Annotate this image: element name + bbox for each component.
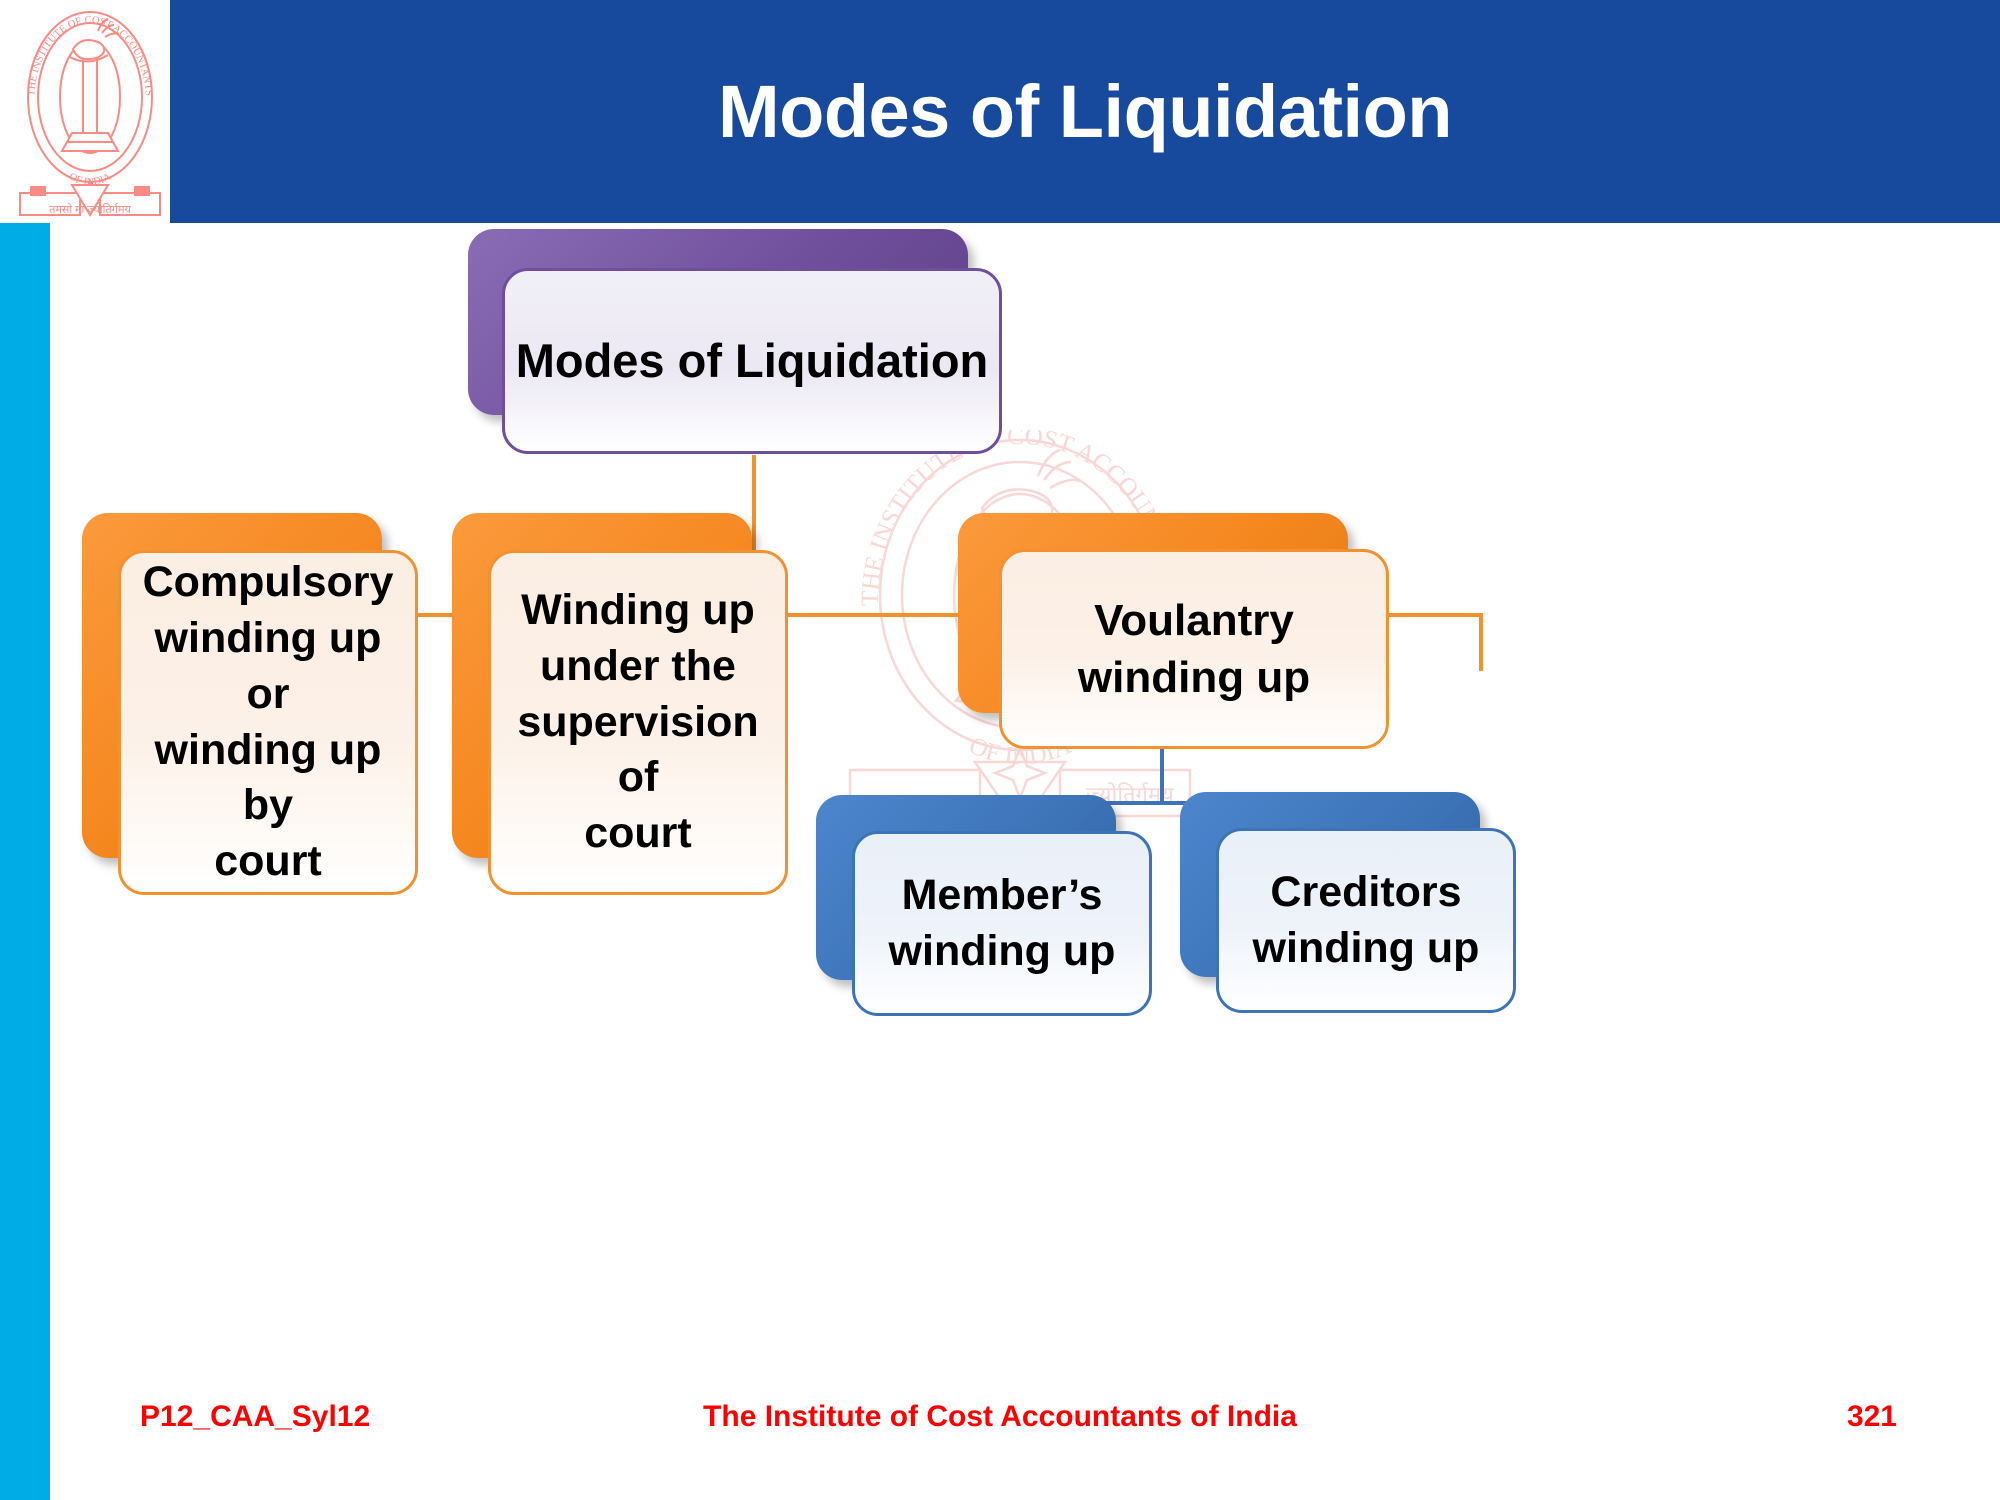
- node-modes-of-liquidation[interactable]: Modes of Liquidation: [468, 229, 968, 415]
- footer-page-number: 321: [0, 1400, 1897, 1434]
- page-title: Modes of Liquidation: [170, 0, 2000, 223]
- institute-logo: तमसो मा ज्योतिर्गमय THE INSTITUTE OF COS…: [10, 5, 170, 223]
- slide-header-bar: Modes of Liquidation: [170, 0, 2000, 223]
- node-face[interactable]: Winding up under the supervision of cour…: [488, 550, 788, 895]
- node-face[interactable]: Compulsory winding up or winding up by c…: [118, 550, 418, 895]
- node-winding-up-under-supervision-of-court[interactable]: Winding up under the supervision of cour…: [452, 513, 752, 858]
- connector-drop-voluntary: [1479, 613, 1483, 671]
- node-face[interactable]: Voulantry winding up: [999, 549, 1389, 749]
- node-face[interactable]: Member’s winding up: [852, 831, 1152, 1016]
- node-compulsory-winding-up[interactable]: Compulsory winding up or winding up by c…: [82, 513, 382, 858]
- node-creditors-winding-up[interactable]: Creditors winding up: [1180, 792, 1480, 977]
- node-label: Winding up under the supervision of cour…: [507, 583, 768, 862]
- node-face[interactable]: Creditors winding up: [1216, 828, 1516, 1013]
- node-label: Modes of Liquidation: [506, 330, 999, 391]
- left-accent-strip: [0, 223, 50, 1500]
- node-label: Member’s winding up: [879, 868, 1126, 980]
- svg-text:तमसो मा ज्योतिर्गमय: तमसो मा ज्योतिर्गमय: [49, 203, 131, 216]
- slide-footer: P12_CAA_Syl12 The Institute of Cost Acco…: [0, 1400, 2000, 1460]
- node-label: Voulantry winding up: [1068, 592, 1320, 706]
- node-label: Compulsory winding up or winding up by c…: [133, 555, 404, 890]
- node-members-winding-up[interactable]: Member’s winding up: [816, 795, 1116, 980]
- node-voluntary-winding-up[interactable]: Voulantry winding up: [958, 513, 1348, 713]
- node-face[interactable]: Modes of Liquidation: [502, 268, 1002, 454]
- node-label: Creditors winding up: [1243, 865, 1490, 977]
